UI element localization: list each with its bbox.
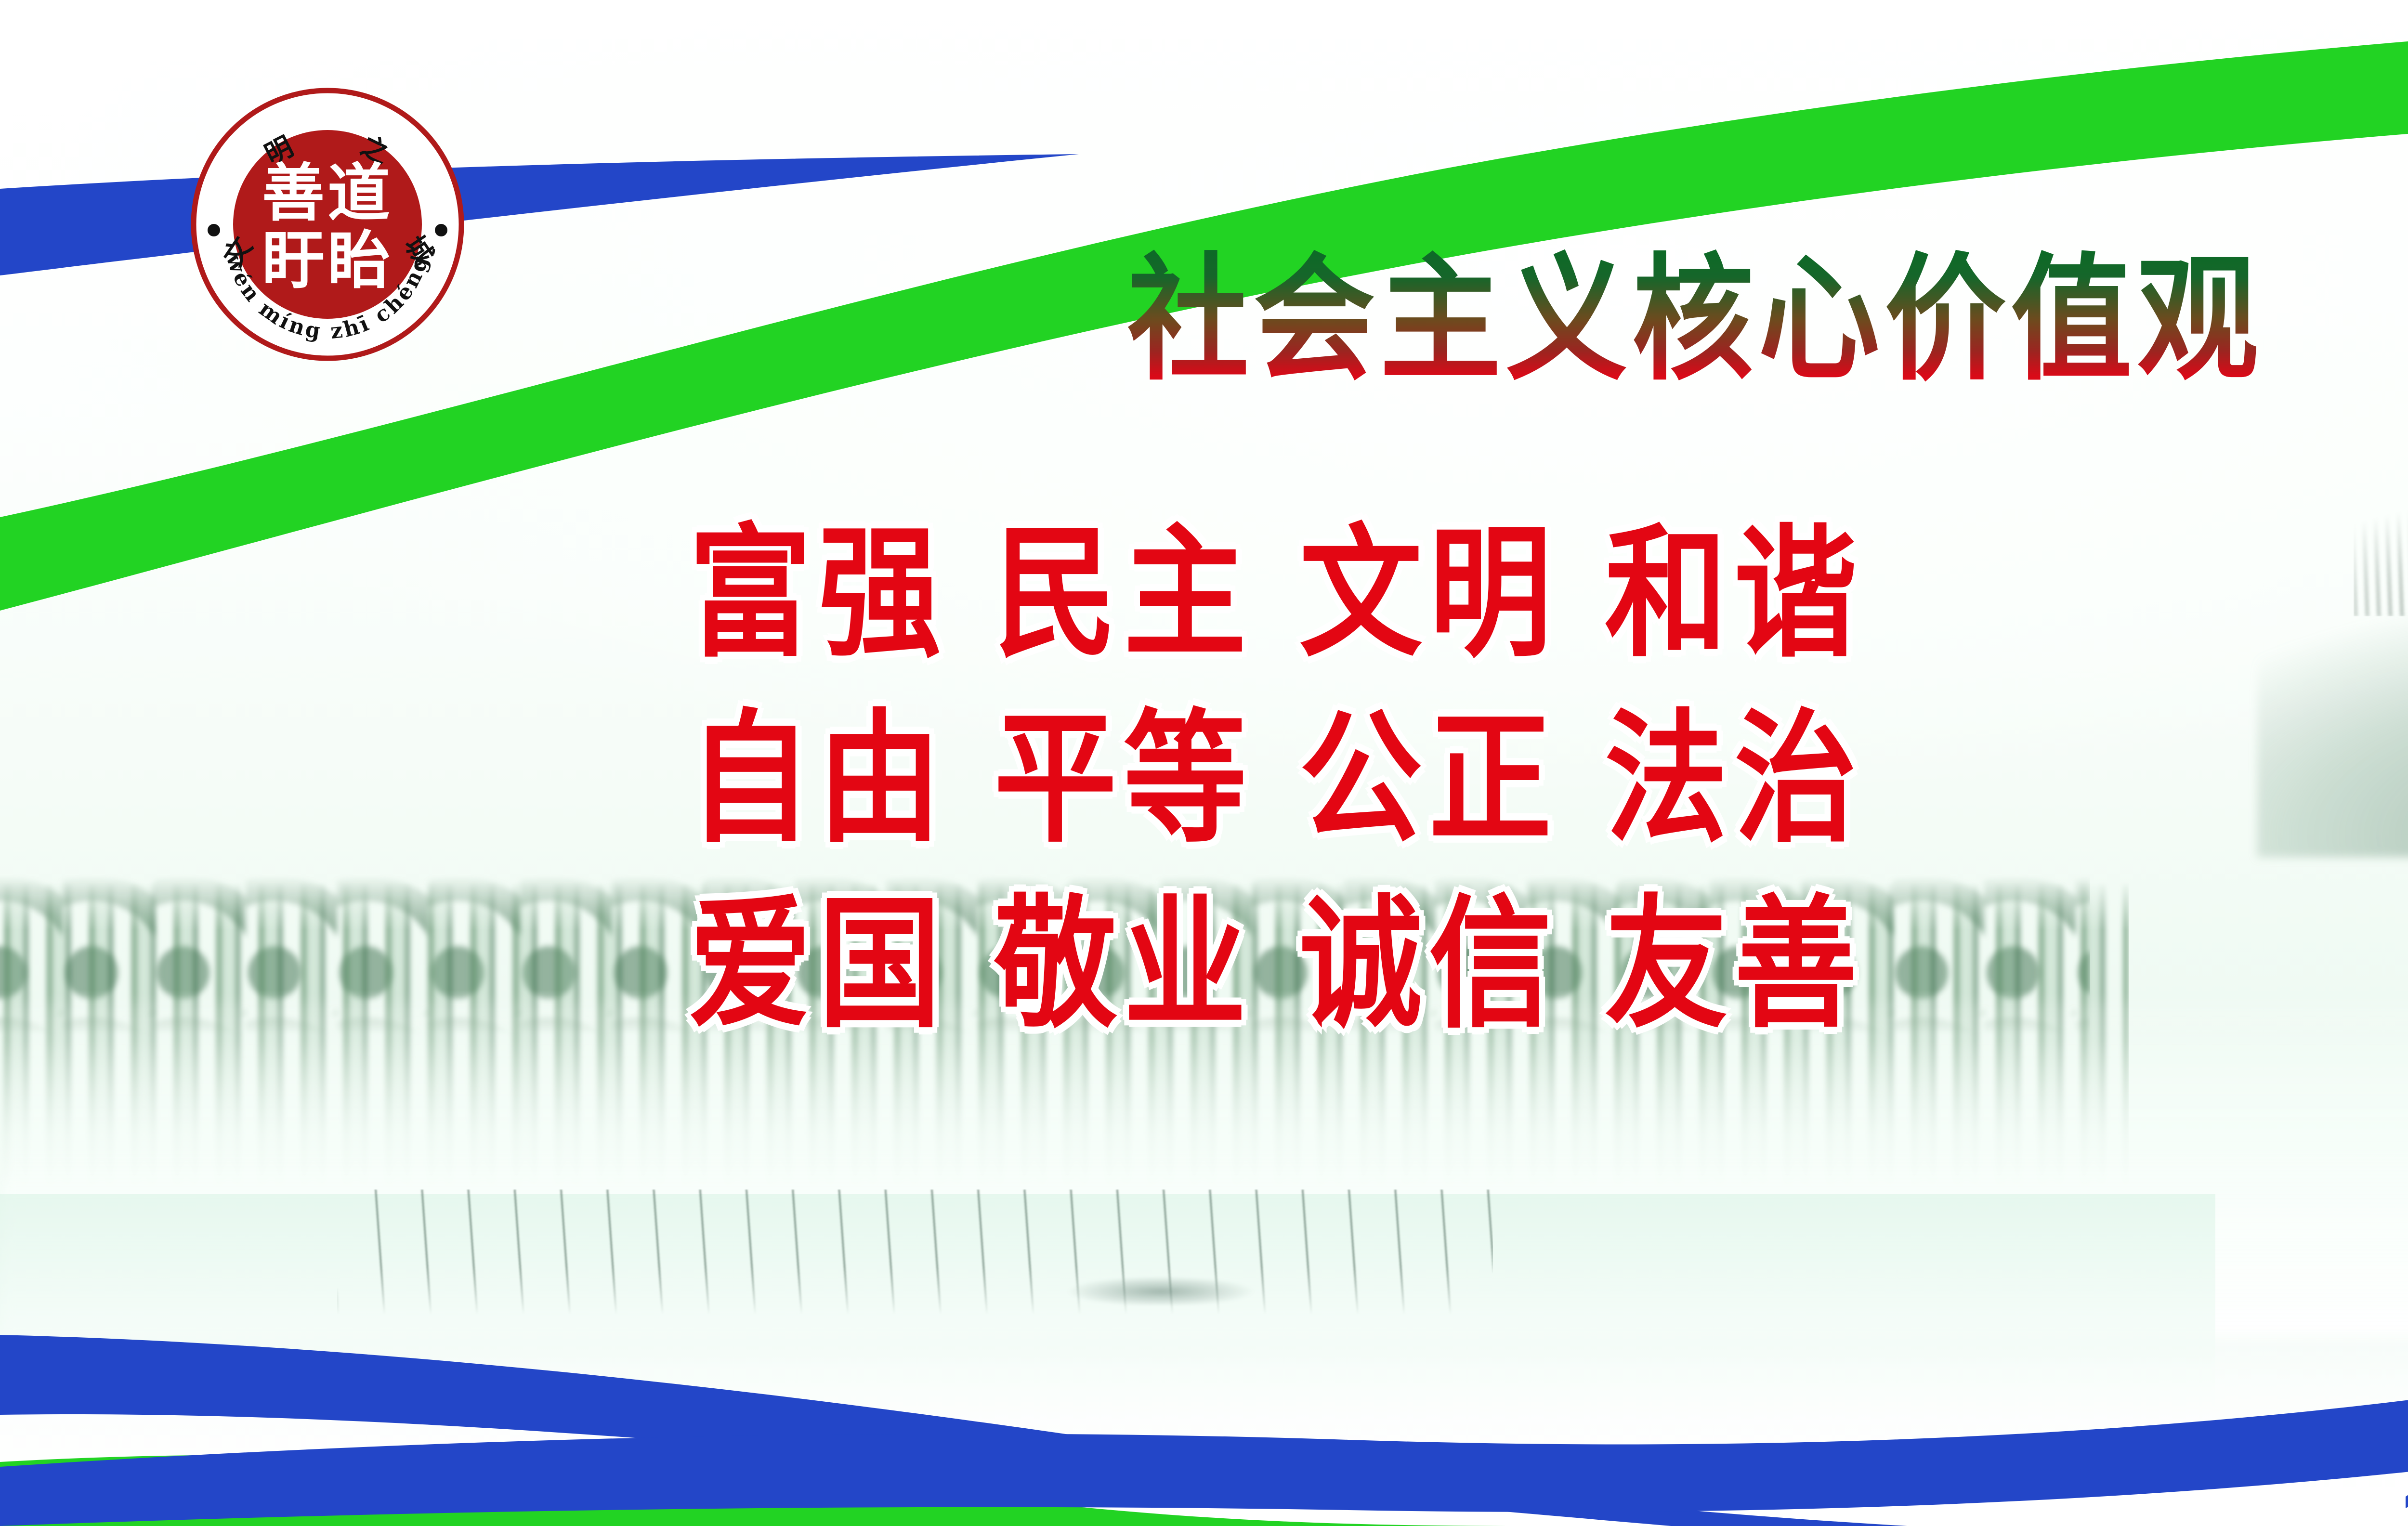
white-fade-bottom [0, 1324, 2408, 1526]
page-title: 社会主义核心价值观 [848, 243, 2408, 397]
water-stakes [337, 1189, 1493, 1315]
slogan-word: 文明 [1299, 511, 1558, 677]
emblem-dot-right [435, 224, 447, 236]
slogan-word: 诚信 [1299, 882, 1558, 1048]
slogan-row-1: 富强民主文明和谐 [689, 486, 2408, 702]
slogan-word: 自由 [689, 696, 948, 862]
slogan-word: 富强 [689, 511, 948, 677]
slogan-word: 公正 [1299, 696, 1558, 862]
slogan-row-3: 爱国敬业诚信友善 [689, 857, 2408, 1072]
slogan-word: 爱国 [689, 882, 948, 1048]
emblem-dot-left [208, 224, 220, 236]
emblem-center-line-2: 盱眙 [262, 224, 393, 297]
headline-block: 社会主义核心价值观 [848, 243, 2408, 388]
distant-boat [1035, 1271, 1286, 1305]
core-values-slogans: 富强民主文明和谐 自由平等公正法治 爱国敬业诚信友善 [689, 486, 2408, 1043]
slogan-word: 民主 [994, 511, 1253, 677]
slogan-row-2: 自由平等公正法治 [689, 672, 2408, 887]
slogan-word: 法治 [1605, 696, 1864, 862]
slogan-word: 友善 [1605, 882, 1864, 1048]
emblem-center-line-1: 善道 [262, 157, 393, 230]
poster-banner: 文 明 之 城 善道 盱眙 wén míng zhī chéng 社会主义核心价… [0, 0, 2408, 1526]
city-emblem-logo: 文 明 之 城 善道 盱眙 wén míng zhī chéng [189, 86, 466, 363]
slogan-word: 敬业 [994, 882, 1253, 1048]
slogan-word: 平等 [994, 696, 1253, 862]
slogan-word: 和谐 [1605, 511, 1864, 677]
